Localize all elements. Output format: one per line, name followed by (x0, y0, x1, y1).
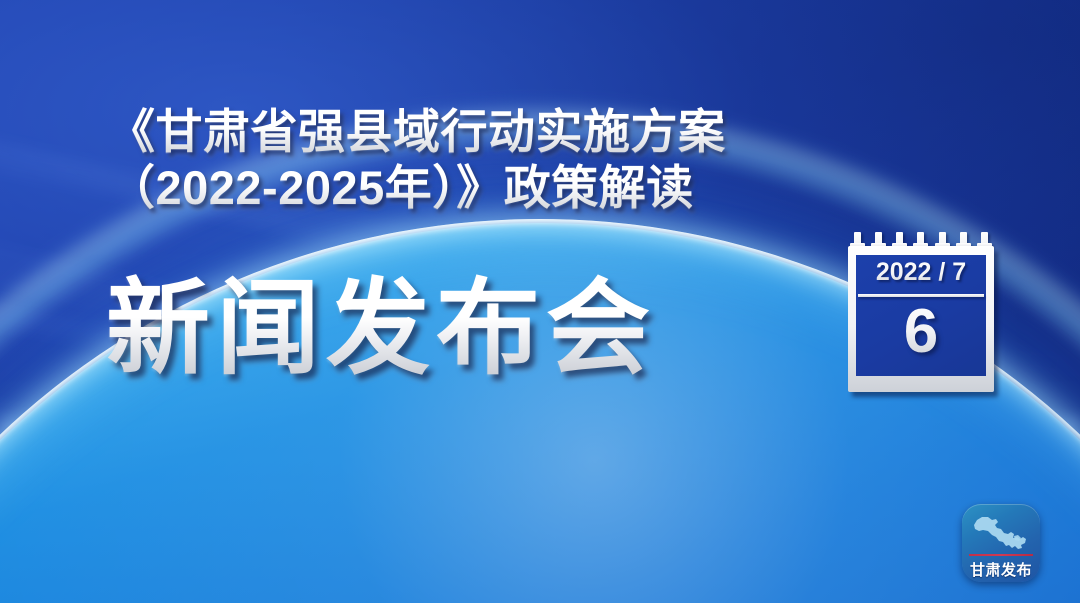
calendar-body: 2022 / 7 6 (848, 246, 994, 392)
calendar-icon: 2022 / 7 6 (848, 232, 994, 392)
document-title-line-2: （2022-2025年）》政策解读 (108, 160, 868, 216)
logo-divider-line (969, 554, 1033, 556)
calendar-year-month: 2022 / 7 (848, 258, 994, 287)
poster-stage: 《甘肃省强县域行动实施方案 （2022-2025年）》政策解读 新闻发布会 20… (0, 0, 1080, 603)
headline-text: 新闻发布会 (106, 273, 656, 385)
logo-label: 甘肃发布 (962, 559, 1040, 580)
poster-content: 《甘肃省强县域行动实施方案 （2022-2025年）》政策解读 新闻发布会 20… (0, 0, 1080, 603)
gansu-release-logo-badge[interactable]: 甘肃发布 (962, 504, 1040, 582)
calendar-day: 6 (848, 298, 994, 366)
document-title: 《甘肃省强县域行动实施方案 （2022-2025年）》政策解读 (108, 104, 868, 216)
gansu-province-map-icon (970, 512, 1032, 552)
document-title-line-1: 《甘肃省强县域行动实施方案 (108, 104, 868, 160)
